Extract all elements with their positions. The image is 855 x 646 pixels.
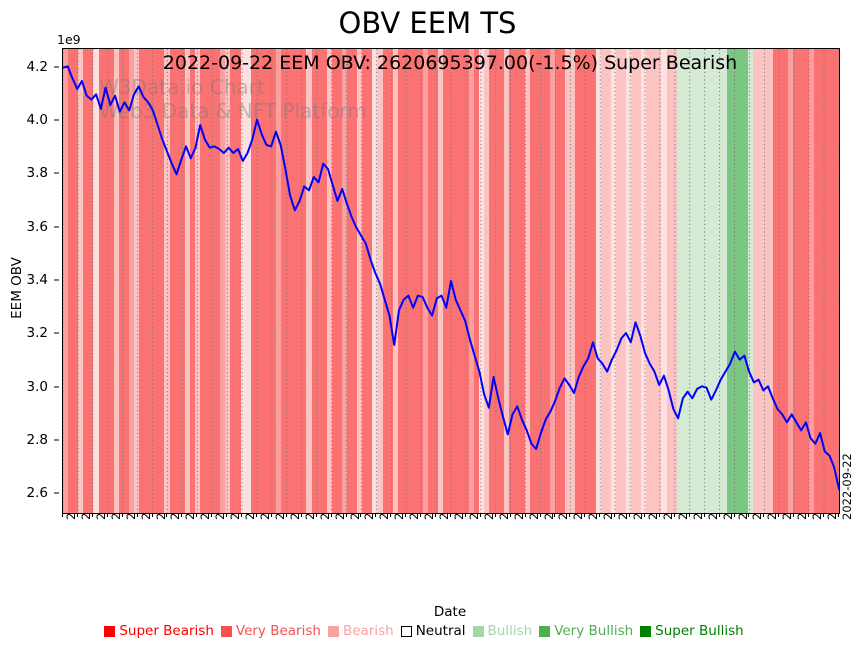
x-axis-tick-mark <box>92 513 93 517</box>
x-axis-tick-mark <box>734 513 735 517</box>
y-axis-tick-label: 3.4 <box>27 272 48 288</box>
legend-entry[interactable]: Very Bearish <box>221 624 321 638</box>
x-axis-tick-mark <box>301 513 302 517</box>
y-axis-tick-label: 2.8 <box>27 432 48 448</box>
x-axis-tick-mark <box>629 513 630 517</box>
x-axis-tick-mark <box>316 513 317 517</box>
x-axis-tick-mark <box>107 513 108 517</box>
legend-entry[interactable]: Bearish <box>328 624 394 638</box>
legend-entry[interactable]: Neutral <box>401 624 466 638</box>
x-axis-tick-label: 2022-09-22 <box>842 453 853 520</box>
legend-entry[interactable]: Super Bearish <box>104 624 214 638</box>
legend-label: Bearish <box>343 624 394 638</box>
x-axis-tick-mark <box>823 513 824 517</box>
legend-entry[interactable]: Super Bullish <box>640 624 744 638</box>
legend-label: Very Bearish <box>236 624 321 638</box>
x-axis-tick-mark <box>525 513 526 517</box>
legend-swatch-icon <box>221 626 232 637</box>
y-axis-tick-label: 2.6 <box>27 485 48 501</box>
y-axis-tick-label: 4.0 <box>27 112 48 128</box>
legend-entry[interactable]: Bullish <box>473 624 533 638</box>
x-axis-tick-mark <box>480 513 481 517</box>
x-axis-tick-mark <box>659 513 660 517</box>
x-axis-tick-mark <box>540 513 541 517</box>
legend-label: Super Bearish <box>119 624 214 638</box>
x-axis-tick-mark <box>838 513 839 517</box>
x-axis-tick-mark <box>435 513 436 517</box>
legend-swatch-icon <box>539 626 550 637</box>
y-axis-tick-mark <box>54 66 59 67</box>
obv-line-series <box>63 49 839 513</box>
x-axis-tick-mark <box>122 513 123 517</box>
y-axis-tick-mark <box>54 173 59 174</box>
x-axis-tick-mark <box>271 513 272 517</box>
legend-label: Bullish <box>488 624 533 638</box>
chart-figure: OBV EEM TS 1e9 2022-09-22 EEM OBV: 26206… <box>0 0 855 646</box>
y-axis-tick-label: 4.2 <box>27 59 48 75</box>
legend-swatch-icon <box>328 626 339 637</box>
x-axis-tick-mark <box>450 513 451 517</box>
x-axis: 2021-09-242021-10-012021-10-082021-10-15… <box>62 513 838 605</box>
x-axis-tick-mark <box>614 513 615 517</box>
x-axis-tick-mark <box>420 513 421 517</box>
x-axis-title: Date <box>62 604 838 620</box>
x-axis-tick-mark <box>152 513 153 517</box>
legend-swatch-icon <box>640 626 651 637</box>
y-axis-tick-label: 3.0 <box>27 379 48 395</box>
y-axis-offset-label: 1e9 <box>57 32 81 47</box>
x-axis-tick-mark <box>331 513 332 517</box>
x-axis-tick-mark <box>77 513 78 517</box>
legend-swatch-icon <box>401 626 412 637</box>
y-axis-tick-mark <box>54 120 59 121</box>
x-axis-tick-mark <box>644 513 645 517</box>
legend-label: Super Bullish <box>655 624 744 638</box>
y-axis-tick-mark <box>54 493 59 494</box>
legend-swatch-icon <box>473 626 484 637</box>
y-axis-tick-label: 3.6 <box>27 219 48 235</box>
x-axis-tick-mark <box>674 513 675 517</box>
x-axis-tick-mark <box>286 513 287 517</box>
y-axis-tick-mark <box>54 440 59 441</box>
x-axis-tick-mark <box>689 513 690 517</box>
legend-swatch-icon <box>104 626 115 637</box>
y-axis-tick-mark <box>54 333 59 334</box>
x-axis-tick-mark <box>346 513 347 517</box>
page-title: OBV EEM TS <box>0 6 855 40</box>
x-axis-tick-mark <box>256 513 257 517</box>
x-axis-tick-mark <box>241 513 242 517</box>
x-axis-tick-mark <box>704 513 705 517</box>
x-axis-tick-mark <box>62 513 63 517</box>
y-axis-title: EEM OBV <box>9 228 25 348</box>
x-axis-tick-mark <box>226 513 227 517</box>
x-axis-tick-mark <box>510 513 511 517</box>
x-axis-tick-mark <box>719 513 720 517</box>
x-axis-tick-mark <box>137 513 138 517</box>
x-axis-tick-mark <box>808 513 809 517</box>
x-axis-tick-mark <box>465 513 466 517</box>
legend-entry[interactable]: Very Bullish <box>539 624 633 638</box>
legend-label: Neutral <box>416 624 466 638</box>
y-axis-tick-mark <box>54 226 59 227</box>
legend-label: Very Bullish <box>554 624 633 638</box>
chart-subtitle: 2022-09-22 EEM OBV: 2620695397.00(-1.5%)… <box>62 50 838 76</box>
y-axis-tick-label: 3.8 <box>27 165 48 181</box>
legend: Super BearishVery BearishBearishNeutralB… <box>0 620 855 642</box>
y-axis-tick-label: 3.2 <box>27 325 48 341</box>
y-axis-tick-mark <box>54 386 59 387</box>
plot-area: W3Data.io Chart Web3 Data & NFT Platform <box>62 48 840 514</box>
data-line-layer <box>63 49 839 513</box>
y-axis-tick-mark <box>54 280 59 281</box>
x-axis-tick-mark <box>495 513 496 517</box>
